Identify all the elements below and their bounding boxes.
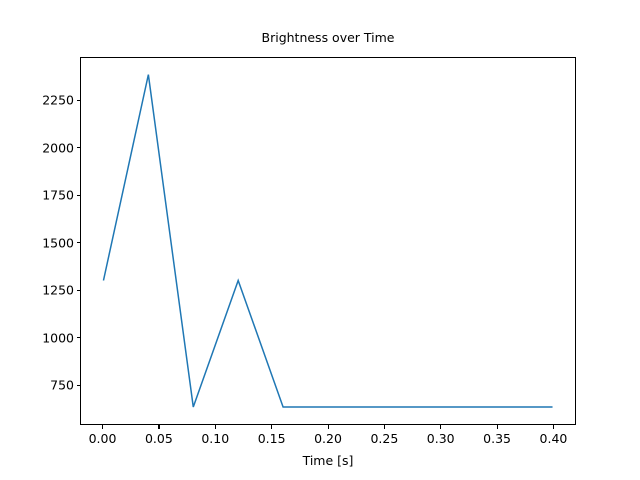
x-tick-mark (102, 425, 103, 429)
x-tick-mark (328, 425, 329, 429)
x-tick-mark (271, 425, 272, 429)
x-tick-mark (553, 425, 554, 429)
x-tick-mark (215, 425, 216, 429)
x-tick-marks (0, 0, 640, 480)
x-tick-label: 0.05 (145, 431, 173, 446)
x-tick-label: 0.10 (201, 431, 229, 446)
x-tick-mark (158, 425, 159, 429)
x-axis-label: Time [s] (80, 453, 576, 468)
x-tick-label: 0.20 (314, 431, 342, 446)
x-tick-mark (497, 425, 498, 429)
chart-figure: Brightness over Time Brightness 75010001… (0, 0, 640, 480)
x-tick-mark (384, 425, 385, 429)
x-tick-label: 0.25 (370, 431, 398, 446)
x-tick-label: 0.15 (258, 431, 286, 446)
x-tick-label: 0.30 (427, 431, 455, 446)
x-tick-labels: 0.000.050.100.150.200.250.300.350.40 (0, 431, 640, 451)
x-tick-label: 0.00 (89, 431, 117, 446)
x-tick-mark (440, 425, 441, 429)
x-tick-label: 0.35 (483, 431, 511, 446)
x-tick-label: 0.40 (540, 431, 568, 446)
